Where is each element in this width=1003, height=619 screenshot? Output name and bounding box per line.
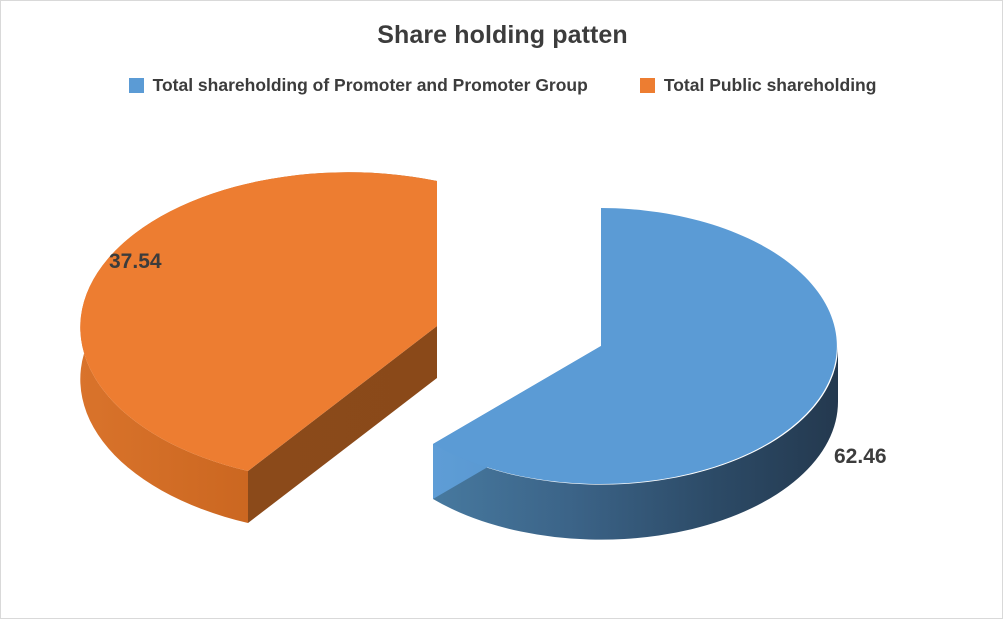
data-label-promoter: 62.46 <box>834 445 887 469</box>
pie-chart-plot <box>1 1 1003 619</box>
data-label-public: 37.54 <box>109 250 162 274</box>
pie-slice-promoter[interactable] <box>433 208 838 540</box>
pie-slice-public[interactable] <box>80 172 437 523</box>
chart-container: Share holding patten Total shareholding … <box>0 0 1003 619</box>
